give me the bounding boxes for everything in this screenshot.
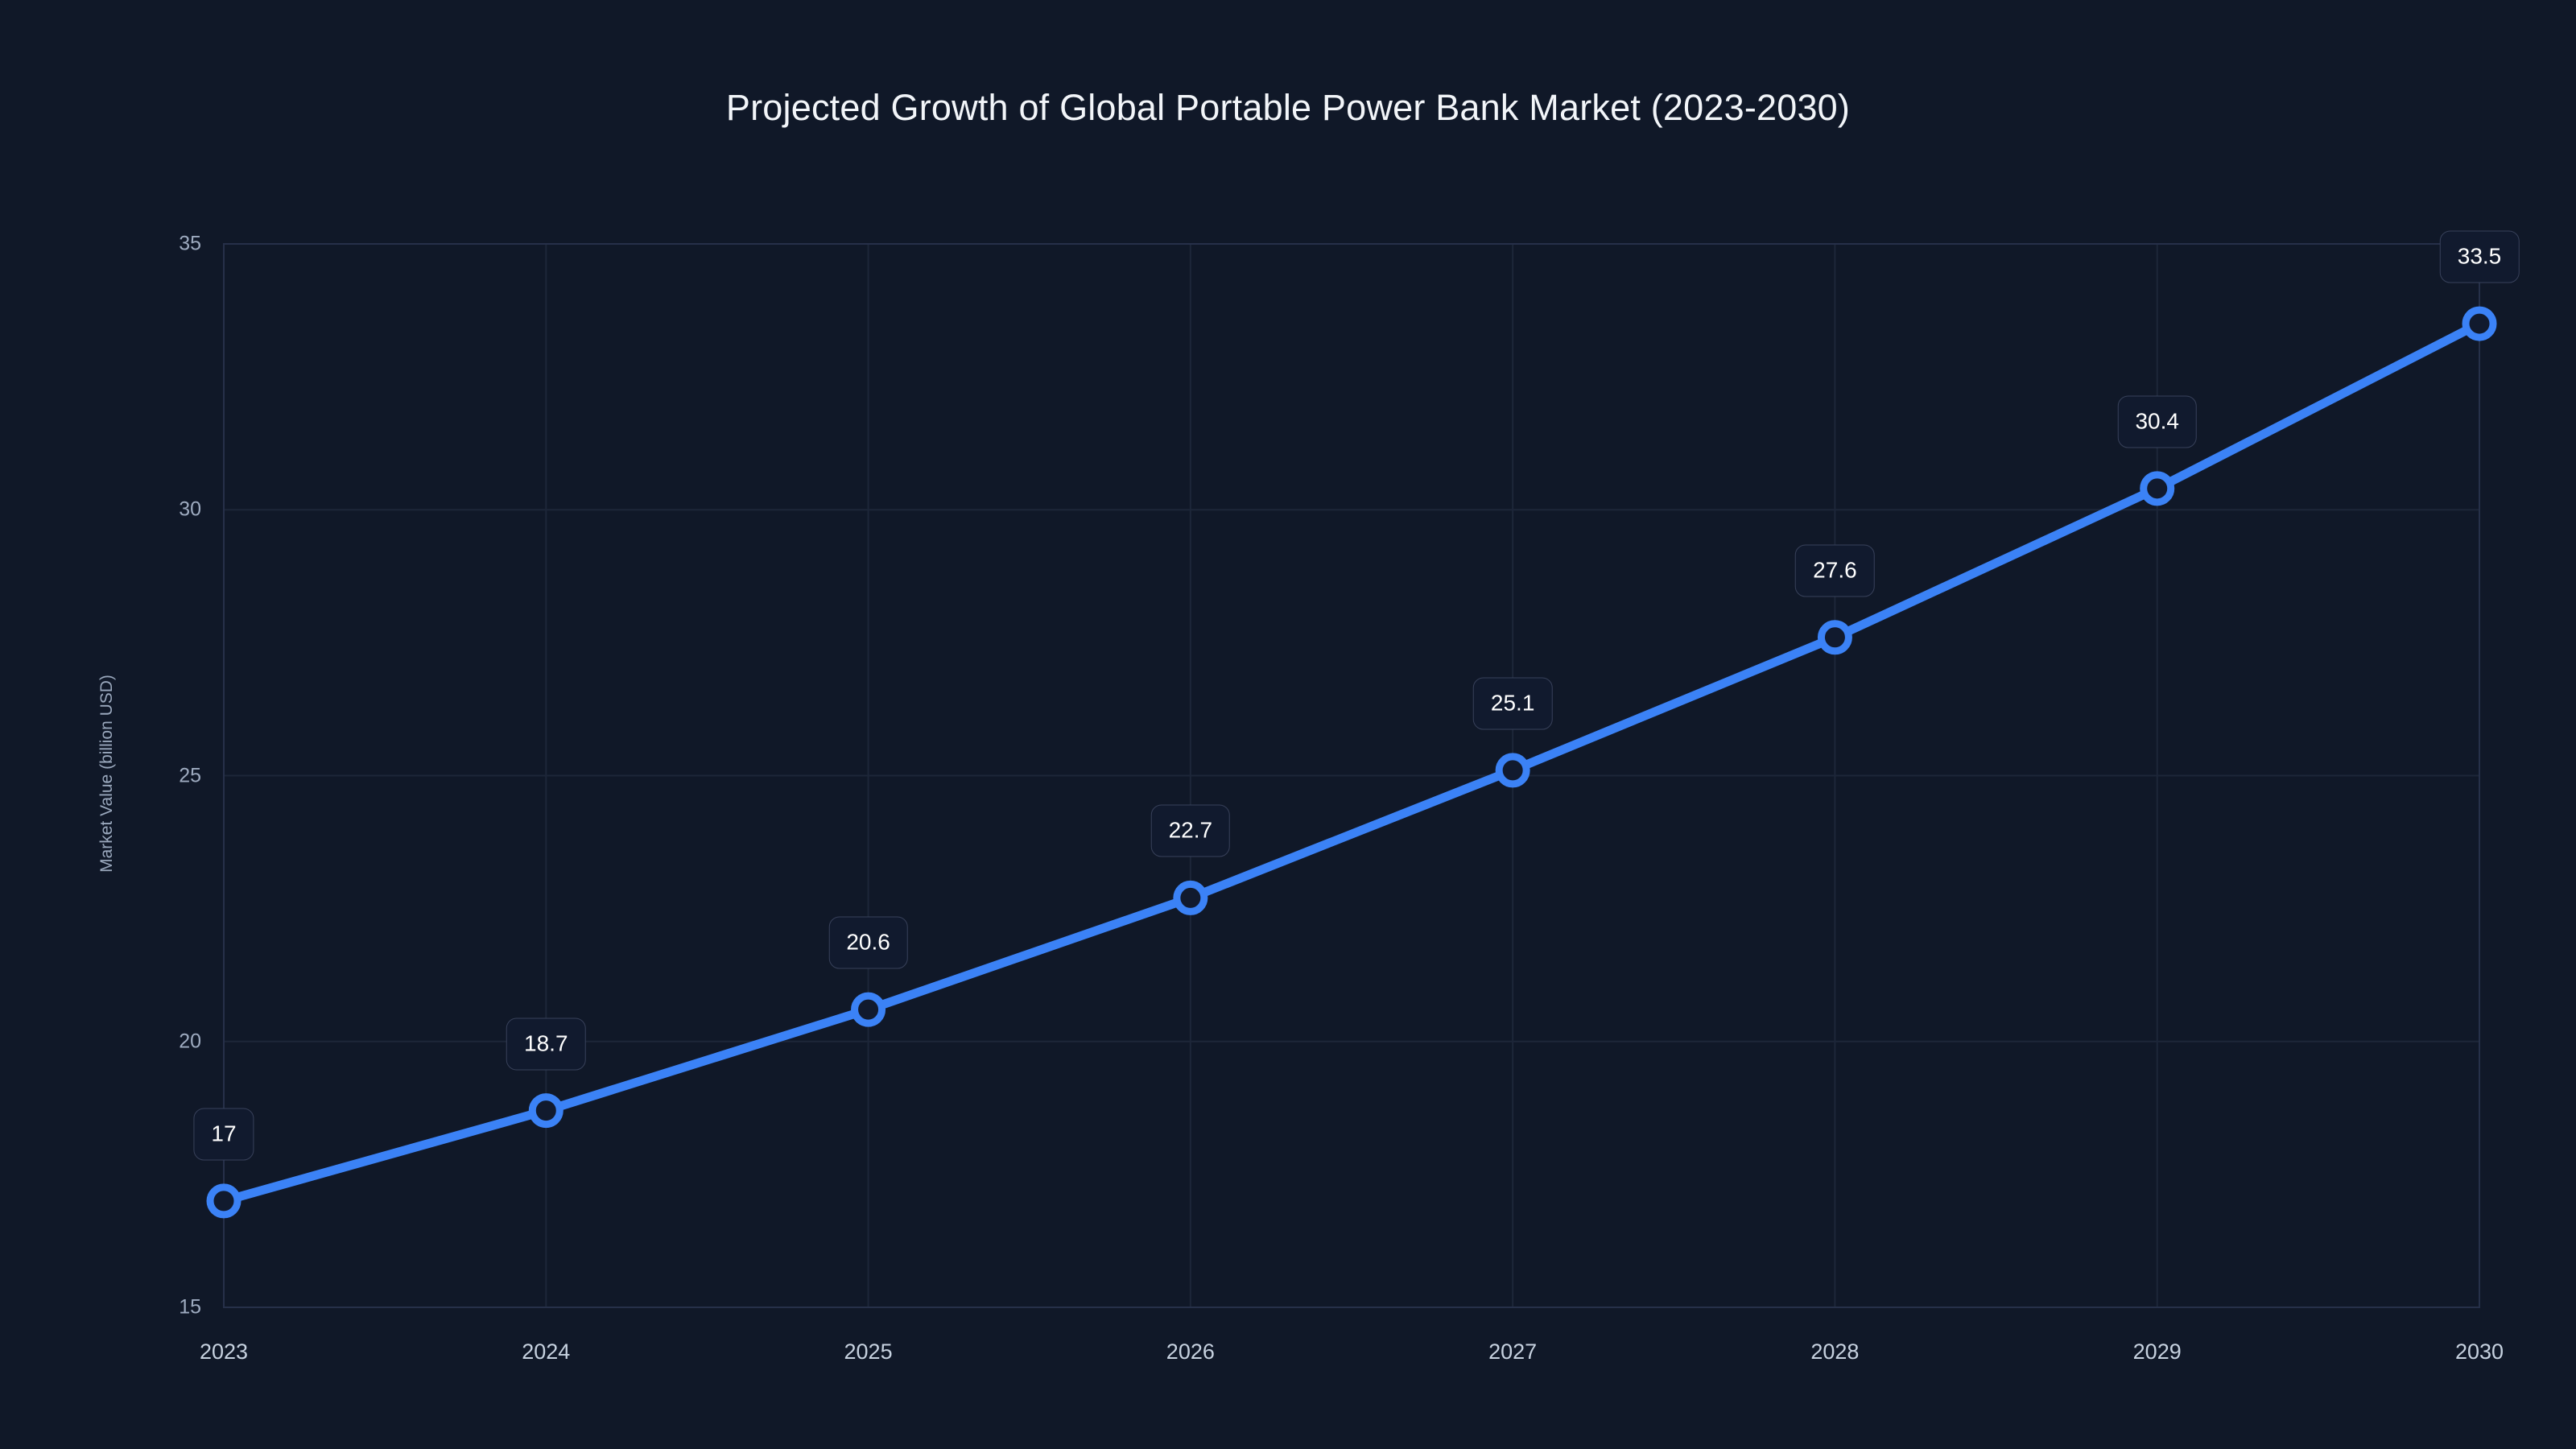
data-point-value-badge: 33.5 — [2440, 231, 2520, 283]
y-axis-tick-label: 25 — [137, 764, 201, 787]
data-point-value-badge: 22.7 — [1151, 805, 1231, 857]
data-point-marker[interactable] — [2466, 310, 2493, 337]
data-point-value-badge: 27.6 — [1795, 544, 1875, 597]
x-axis-tick-label: 2023 — [143, 1340, 304, 1364]
x-axis-tick-label: 2030 — [2399, 1340, 2560, 1364]
data-point-value-badge: 17 — [193, 1108, 254, 1160]
data-point-marker[interactable] — [532, 1097, 559, 1125]
data-point-marker[interactable] — [855, 996, 882, 1023]
data-point-marker[interactable] — [1821, 624, 1848, 651]
data-point-marker[interactable] — [1177, 884, 1204, 911]
data-point-value-badge: 25.1 — [1473, 677, 1553, 729]
y-axis-tick-label: 15 — [137, 1296, 201, 1319]
y-axis-tick-label: 35 — [137, 233, 201, 256]
line-chart-plot — [0, 0, 2576, 1449]
x-axis-tick-label: 2025 — [788, 1340, 949, 1364]
x-axis-tick-label: 2024 — [465, 1340, 626, 1364]
data-point-marker[interactable] — [1499, 757, 1526, 784]
data-point-value-badge: 20.6 — [828, 917, 908, 969]
chart-root: Projected Growth of Global Portable Powe… — [0, 0, 2576, 1449]
y-axis-tick-label: 30 — [137, 498, 201, 522]
x-axis-tick-label: 2027 — [1432, 1340, 1593, 1364]
y-axis-tick-label: 20 — [137, 1030, 201, 1053]
data-point-marker[interactable] — [2144, 475, 2171, 502]
data-point-value-badge: 30.4 — [2117, 395, 2197, 448]
x-axis-tick-label: 2026 — [1110, 1340, 1271, 1364]
data-point-marker[interactable] — [210, 1187, 237, 1215]
x-axis-tick-label: 2028 — [1754, 1340, 1915, 1364]
x-axis-tick-label: 2029 — [2077, 1340, 2238, 1364]
data-point-value-badge: 18.7 — [506, 1018, 586, 1070]
